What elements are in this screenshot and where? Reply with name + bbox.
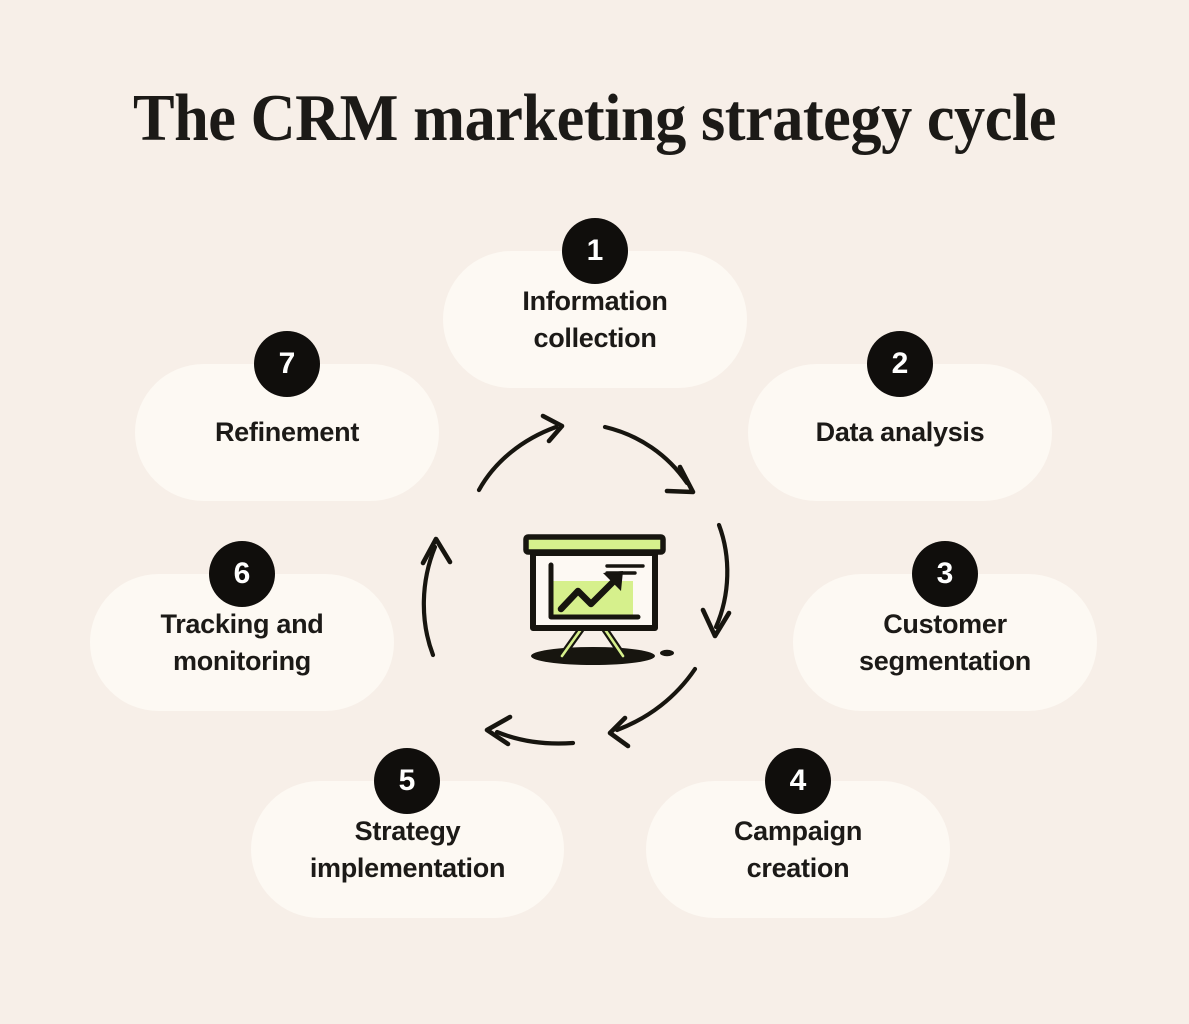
- cycle-step-6[interactable]: Tracking and monitoring 6: [90, 541, 394, 711]
- cycle-arrowhead-left: [423, 539, 450, 563]
- step-badge-3: 3: [912, 541, 978, 607]
- cycle-step-5[interactable]: Strategy implementation 5: [251, 748, 564, 918]
- presentation-chart-icon: [505, 525, 690, 670]
- cycle-arc-right: [716, 525, 727, 627]
- step-label-6: Tracking and monitoring: [143, 606, 342, 680]
- cycle-arrowhead-bottom-right: [610, 718, 628, 746]
- step-badge-5: 5: [374, 748, 440, 814]
- step-label-1: Information collection: [504, 283, 685, 357]
- cycle-arc-left: [424, 547, 435, 655]
- cycle-step-3[interactable]: Customer segmentation 3: [793, 541, 1097, 711]
- step-label-3: Customer segmentation: [841, 606, 1049, 680]
- infographic-canvas: The CRM marketing strategy cycle: [0, 0, 1189, 1024]
- step-badge-2: 2: [867, 331, 933, 397]
- step-badge-1: 1: [562, 218, 628, 284]
- cycle-arc-top-left: [479, 427, 556, 490]
- step-label-2: Data analysis: [798, 414, 1003, 451]
- shadow-blob: [531, 647, 655, 665]
- cycle-arc-bottom-right: [617, 669, 695, 730]
- step-badge-6: 6: [209, 541, 275, 607]
- board-top-rail: [526, 537, 663, 552]
- shadow-dot: [660, 650, 674, 656]
- cycle-step-2[interactable]: Data analysis 2: [748, 331, 1052, 501]
- cycle-step-4[interactable]: Campaign creation 4: [646, 748, 950, 918]
- step-label-4: Campaign creation: [716, 813, 880, 887]
- cycle-step-7[interactable]: Refinement 7: [135, 331, 439, 501]
- step-label-5: Strategy implementation: [292, 813, 523, 887]
- step-label-7: Refinement: [197, 414, 377, 451]
- cycle-arrowhead-top-right: [667, 467, 693, 492]
- cycle-step-1[interactable]: Information collection 1: [443, 218, 747, 388]
- step-badge-4: 4: [765, 748, 831, 814]
- step-badge-7: 7: [254, 331, 320, 397]
- cycle-arc-top-right: [605, 427, 687, 483]
- page-title: The CRM marketing strategy cycle: [42, 78, 1148, 158]
